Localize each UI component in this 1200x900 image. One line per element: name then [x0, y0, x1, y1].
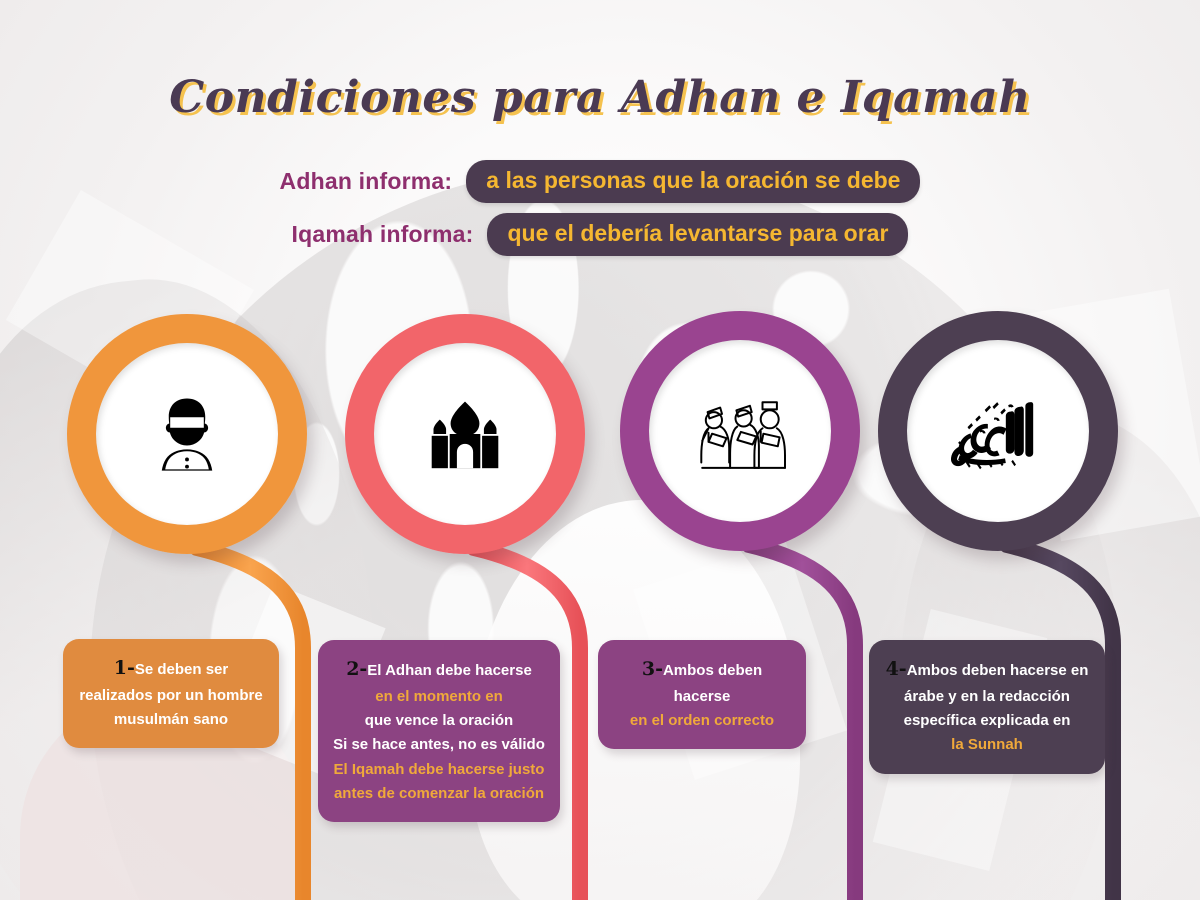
step-2-line-2: en el momento en: [332, 685, 546, 709]
step-circle-2[interactable]: [345, 314, 585, 554]
step-box-3: 3-Ambos deben hacerse en el orden correc…: [598, 640, 806, 749]
step-3-number: 3-: [642, 658, 663, 680]
step-4-line-4: la Sunnah: [883, 733, 1091, 757]
step-4-line-3: específica explicada en: [883, 709, 1091, 733]
step-4-line-1-text: Ambos deben hacerse en: [907, 662, 1089, 679]
step-2-line-1-text: El Adhan debe hacerse: [367, 662, 532, 679]
step-2-line-3: que vence la oración: [332, 709, 546, 733]
step-circle-3-inner: [649, 340, 831, 522]
step-circle-1-inner: [96, 343, 278, 525]
step-circle-2-inner: [374, 343, 556, 525]
step-2-line-5: El Iqamah debe hacerse justo: [332, 758, 546, 782]
step-4-line-2: árabe y en la redacción: [883, 685, 1091, 709]
step-2-line-1: 2-El Adhan debe hacerse: [332, 654, 546, 685]
step-box-4: 4-Ambos deben hacerse en árabe y en la r…: [869, 640, 1105, 774]
step-1-line-1-text: Se deben ser: [135, 661, 228, 678]
praying-people-icon: [686, 381, 794, 481]
step-box-1: 1-Se deben ser realizados por un hombre …: [63, 639, 279, 748]
step-4-line-1: 4-Ambos deben hacerse en: [883, 654, 1091, 685]
mosque-icon: [420, 389, 510, 479]
step-circle-4[interactable]: [878, 311, 1118, 551]
step-1-line-1: 1-Se deben ser: [77, 653, 265, 684]
step-3-line-1-text: Ambos deben hacerse: [663, 662, 762, 705]
step-4-number: 4-: [886, 658, 907, 680]
allahu-akbar-calligraphy-icon: [938, 388, 1058, 474]
bearded-man-icon: [139, 386, 235, 482]
step-2-number: 2-: [346, 658, 367, 680]
step-box-2: 2-El Adhan debe hacerse en el momento en…: [318, 640, 560, 822]
step-1-number: 1-: [114, 657, 135, 679]
step-3-line-2: en el orden correcto: [612, 709, 792, 733]
step-2-line-6: antes de comenzar la oración: [332, 782, 546, 806]
step-3-line-1: 3-Ambos deben hacerse: [612, 654, 792, 709]
step-1-line-2: realizados por un hombre: [77, 684, 265, 708]
infographic-canvas: Condiciones para Adhan e Iqamah Adhan in…: [0, 0, 1200, 900]
step-2-line-4: Si se hace antes, no es válido: [332, 733, 546, 757]
step-circle-4-inner: [907, 340, 1089, 522]
step-circle-1[interactable]: [67, 314, 307, 554]
step-1-line-3: musulmán sano: [77, 708, 265, 732]
step-circle-3[interactable]: [620, 311, 860, 551]
